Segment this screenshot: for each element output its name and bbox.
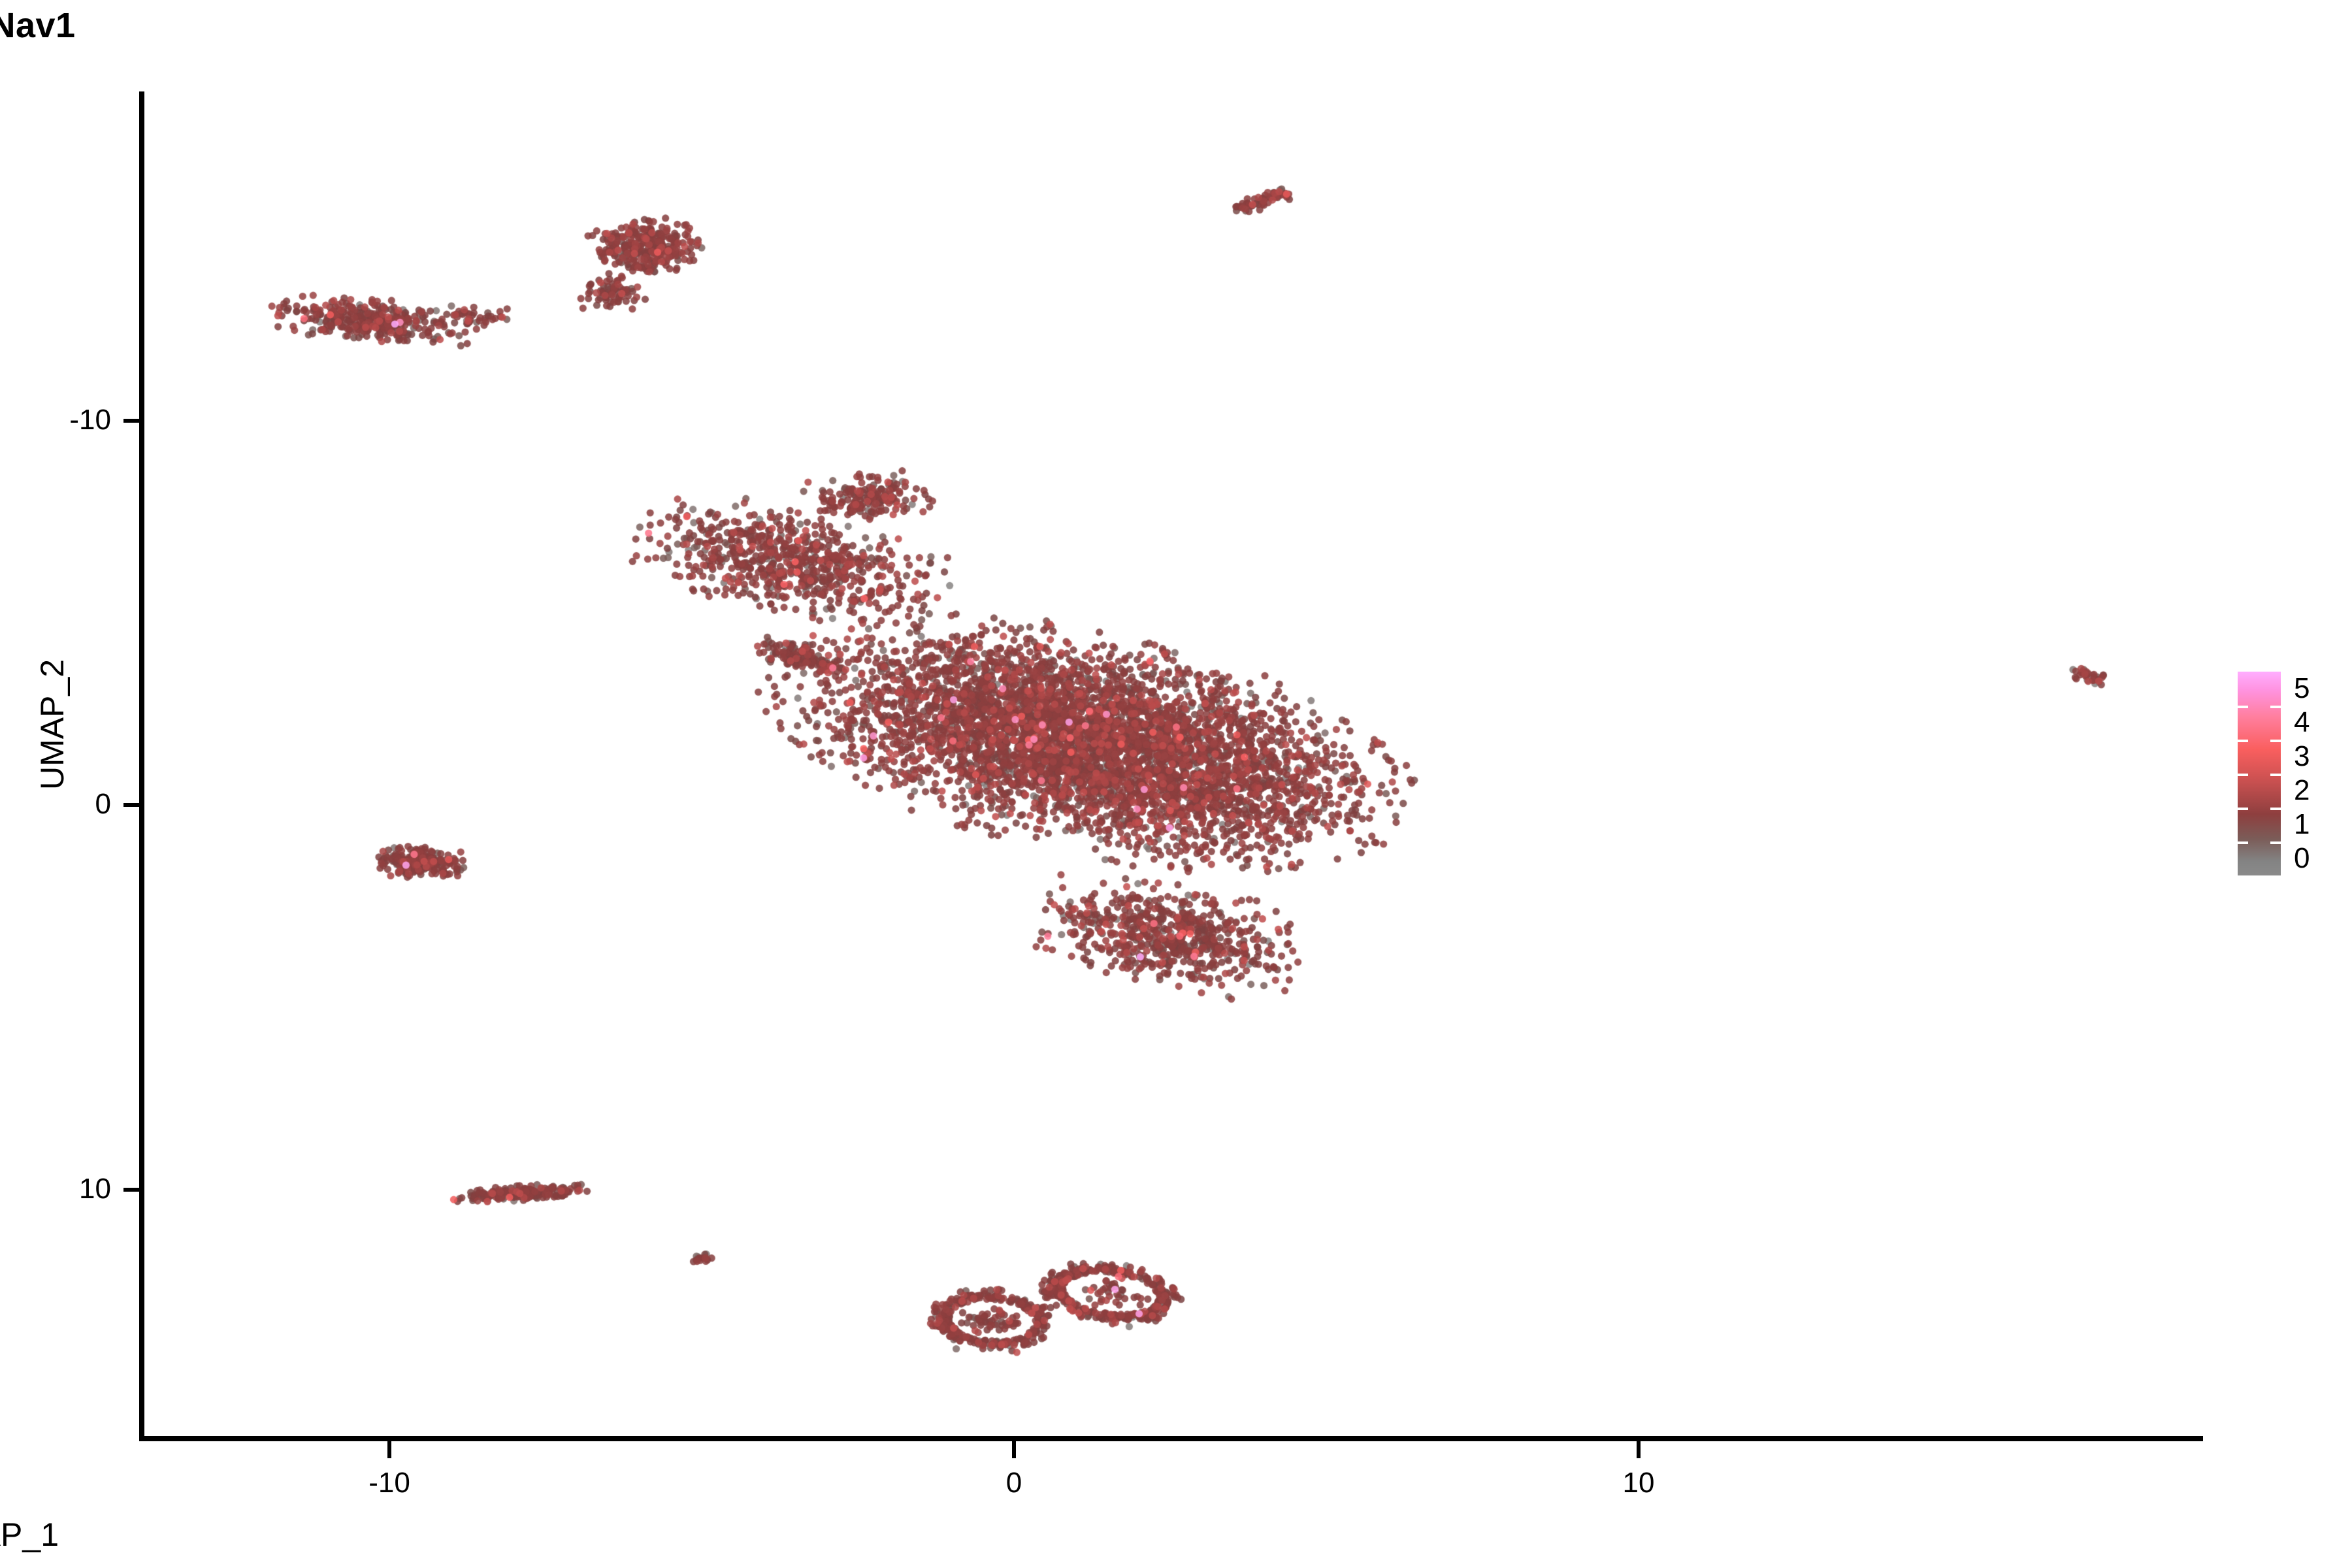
x-axis-line — [139, 1436, 2203, 1441]
legend-tick-mark — [2238, 808, 2248, 810]
legend-label: 2 — [2294, 776, 2333, 805]
y-tick-label: -10 — [13, 404, 111, 436]
legend-tick-mark — [2238, 740, 2248, 742]
legend-tick-mark — [2238, 774, 2248, 776]
plot-panel — [144, 91, 2203, 1439]
legend-label: 5 — [2294, 674, 2333, 703]
legend-tick-mark — [2270, 706, 2281, 708]
legend-tick-mark — [2238, 841, 2248, 844]
legend-tick-mark — [2270, 808, 2281, 810]
y-axis-line — [139, 91, 144, 1441]
y-tick-mark — [123, 1188, 139, 1192]
x-tick-mark — [1637, 1441, 1641, 1458]
page-title: Nav1 — [0, 5, 1209, 46]
legend-tick-mark — [2270, 740, 2281, 742]
color-legend: 543210 — [2238, 666, 2342, 889]
legend-label: 3 — [2294, 742, 2333, 771]
y-axis-title: UMAP_2 — [33, 594, 71, 855]
x-tick-mark — [1012, 1441, 1016, 1458]
legend-label: 4 — [2294, 708, 2333, 737]
legend-tick-mark — [2270, 841, 2281, 844]
x-tick-label: -10 — [324, 1467, 455, 1499]
x-tick-label: 10 — [1573, 1467, 1704, 1499]
scatter-points-layer — [144, 91, 2203, 1439]
x-tick-mark — [387, 1441, 391, 1458]
x-axis-title: UMAP_1 — [0, 1516, 1169, 1554]
legend-tick-mark — [2270, 774, 2281, 776]
legend-label: 0 — [2294, 844, 2333, 873]
y-tick-mark — [123, 419, 139, 423]
legend-tick-mark — [2238, 706, 2248, 708]
umap-feature-plot: Nav1 100-10 -10010 UMAP_1 UMAP_2 543210 — [0, 0, 2352, 1568]
legend-label: 1 — [2294, 810, 2333, 839]
y-tick-mark — [123, 803, 139, 807]
y-tick-label: 10 — [13, 1173, 111, 1205]
x-tick-label: 0 — [949, 1467, 1079, 1499]
